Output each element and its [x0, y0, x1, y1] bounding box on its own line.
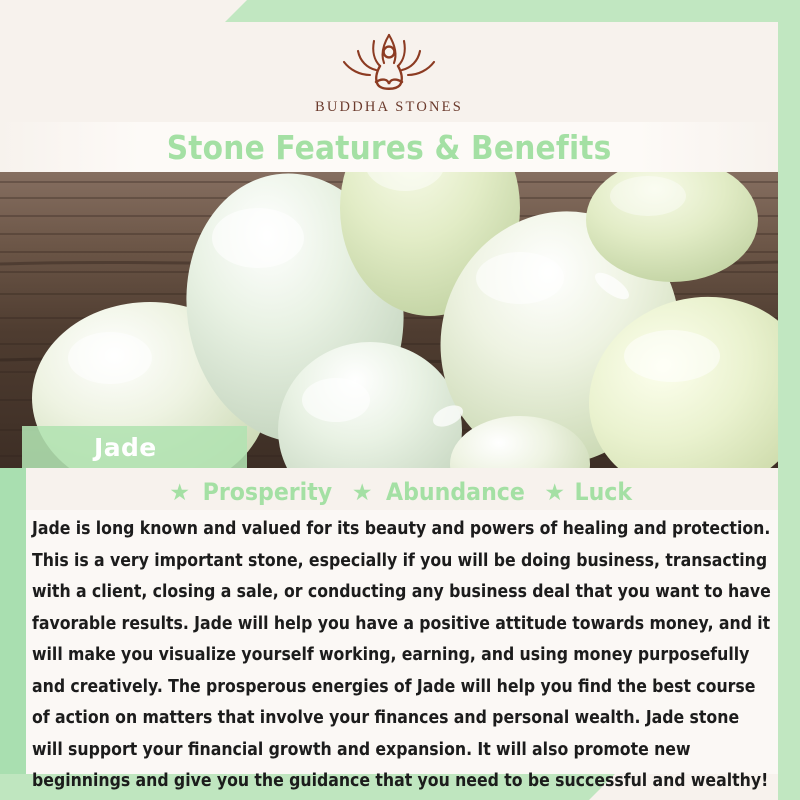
brand-logo: BUDDHA STONES	[0, 22, 778, 122]
benefit-label: Abundance	[386, 478, 525, 506]
star-icon: ★	[544, 481, 565, 504]
benefits-row: ★ Prosperity ★ Abundance ★ Luck	[26, 474, 778, 510]
description-text: Jade is long known and valued for its be…	[32, 514, 772, 798]
title-banner: Stone Features & Benefits	[0, 122, 778, 172]
brand-name: BUDDHA STONES	[315, 99, 463, 116]
page-title: Stone Features & Benefits	[167, 128, 612, 167]
stone-name-badge: Jade	[22, 426, 247, 468]
decoration-right-bar	[778, 0, 800, 800]
stone-photo-illustration	[0, 168, 778, 468]
benefit-item: ★ Prosperity	[169, 478, 337, 506]
benefit-item: ★ Abundance	[352, 478, 531, 506]
lotus-meditation-icon	[314, 29, 464, 97]
star-icon: ★	[169, 481, 190, 504]
description-panel: Jade is long known and valued for its be…	[26, 510, 778, 774]
decoration-top-right-bar	[225, 0, 800, 22]
stone-photo	[0, 168, 778, 468]
benefit-label: Luck	[575, 478, 633, 506]
benefit-item: ★ Luck	[544, 478, 634, 506]
benefit-label: Prosperity	[203, 478, 333, 506]
poster: BUDDHA STONES Stone Features & Benefits	[0, 0, 800, 800]
stone-name: Jade	[94, 433, 157, 462]
star-icon: ★	[352, 481, 373, 504]
